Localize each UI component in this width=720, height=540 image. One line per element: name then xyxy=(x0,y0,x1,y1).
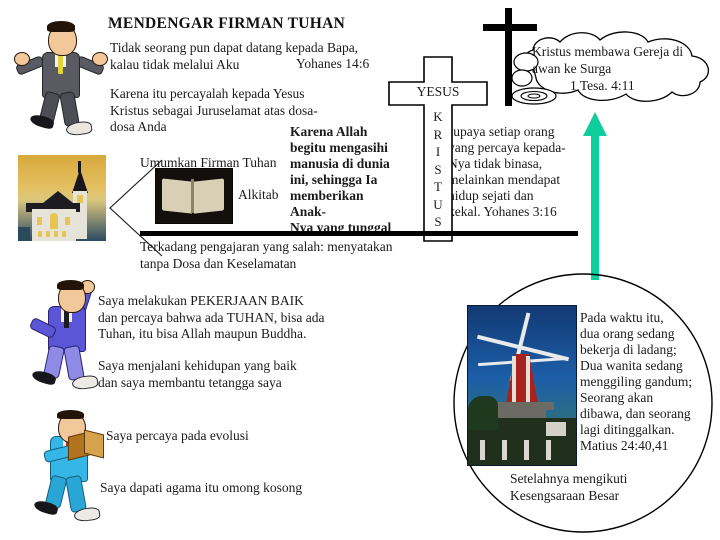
figure-man-gray-suit xyxy=(14,16,106,138)
cross-outline-box: YESUS KRISTUS xyxy=(388,56,488,242)
reference-matthew-24: Matius 24:40,41 xyxy=(580,438,669,455)
cross-letter: I xyxy=(424,143,452,161)
green-up-arrow-icon xyxy=(578,110,612,280)
church-photo xyxy=(18,155,106,241)
horizontal-divider-rule xyxy=(140,231,578,236)
reference-john-14-6: Yohanes 14:6 xyxy=(296,56,369,73)
claim-good-life: Saya menjalani kehidupan yang baik dan s… xyxy=(98,358,368,391)
windmill-photo xyxy=(467,305,577,466)
text-false-teaching-warning: Terkadang pengajaran yang salah: menyata… xyxy=(140,239,470,272)
page-title: MENDENGAR FIRMAN TUHAN xyxy=(108,16,345,33)
cloud-reference: 1 Tesa. 4:11 xyxy=(570,78,710,95)
cross-label-kristus: KRISTUS xyxy=(424,108,452,231)
cross-label-yesus: YESUS xyxy=(388,84,488,100)
text-great-tribulation: Setelahnya mengikuti Kesengsaraan Besar xyxy=(510,470,700,504)
label-alkitab: Alkitab xyxy=(238,187,279,204)
green-arrow-shape xyxy=(578,110,612,280)
cloud-line-2: awan ke Surga xyxy=(532,61,708,78)
cloud-callout: Kristus membawa Gereja di awan ke Surga … xyxy=(500,22,718,112)
figure-man-cyan-suit xyxy=(32,408,118,524)
passage-matthew-24: Pada waktu itu, dua orang sedang bekerja… xyxy=(580,310,714,438)
cloud-line-1: Kristus membawa Gereja di xyxy=(532,44,708,61)
cross-letter: K xyxy=(424,108,452,126)
cross-letter: T xyxy=(424,178,452,196)
claim-good-works: Saya melakukan PEKERJAAN BAIK dan percay… xyxy=(98,293,368,343)
verse-john-3-16-left: Karena Allah begitu mengasihi manusia di… xyxy=(290,124,394,236)
cross-letter: S xyxy=(424,213,452,231)
cross-letter: S xyxy=(424,161,452,179)
claim-religion-nonsense: Saya dapati agama itu omong kosong xyxy=(100,480,390,497)
cross-letter: R xyxy=(424,126,452,144)
claim-evolution: Saya percaya pada evolusi xyxy=(106,428,386,445)
cross-letter: U xyxy=(424,196,452,214)
bible-photo xyxy=(155,168,233,224)
diagram-canvas: MENDENGAR FIRMAN TUHAN Tidak seorang pun… xyxy=(0,0,720,540)
